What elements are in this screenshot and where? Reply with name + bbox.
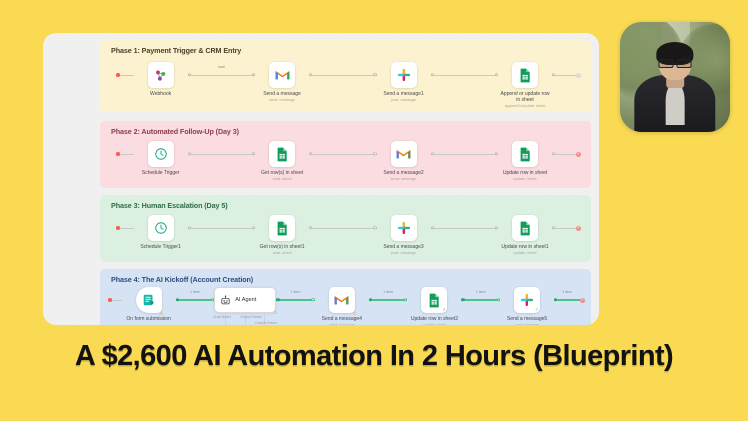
node-icon-box[interactable]	[269, 215, 295, 241]
connector-port[interactable]	[431, 73, 434, 76]
node-sublabel: post: message	[500, 323, 554, 325]
node-label: Get row(s) in sheet	[255, 170, 309, 176]
connector: 1 item	[461, 287, 500, 313]
slack-icon	[397, 68, 411, 82]
phase-3-node-row: Schedule Trigger1	[100, 215, 591, 255]
connector: 1 item	[554, 287, 580, 313]
connector: mail	[188, 62, 255, 88]
node-icon-box[interactable]: AI Agent ⚠	[214, 287, 276, 313]
node-webhook[interactable]: Webhook	[134, 62, 188, 98]
phase-4-end-dot[interactable]: +	[580, 298, 585, 303]
google-sheets-icon	[519, 68, 531, 83]
connector	[188, 215, 255, 241]
connector-port[interactable]	[369, 298, 372, 301]
connector-tag: 1 item	[562, 290, 572, 294]
page-title: A $2,600 AI Automation In 2 Hours (Bluep…	[0, 340, 748, 373]
node-icon-box[interactable]	[391, 215, 417, 241]
node-icon-box[interactable]	[512, 141, 538, 167]
node-label: Append or update row in sheet	[498, 91, 552, 104]
phase-4-title: Phase 4: The AI Kickoff (Account Creatio…	[108, 273, 257, 285]
connector: 1 item	[276, 287, 315, 313]
sub-port-label: Chat Model	[213, 315, 231, 319]
connector	[120, 141, 134, 167]
node-icon-box[interactable]	[269, 141, 295, 167]
node-label: Send a message2	[377, 170, 431, 176]
connector-port[interactable]	[188, 73, 191, 76]
node-sublabel: send: message	[315, 323, 369, 325]
node-send-a-message4[interactable]: ⚠ Send a message4 send: message	[315, 287, 369, 325]
node-send-a-message5[interactable]: ✓ Send a message5 post: message	[500, 287, 554, 325]
check-icon: ✓	[535, 308, 539, 313]
connector	[309, 215, 376, 241]
phase-2-node-row: Schedule Trigger	[100, 141, 591, 181]
phase-1-node-row: Webhook mail	[100, 62, 591, 109]
connector-port[interactable]	[176, 298, 179, 301]
connector	[431, 62, 498, 88]
slack-icon	[397, 221, 411, 235]
node-send-a-message1[interactable]: Send a message1 post: message	[377, 62, 431, 102]
node-label: Send a message5	[500, 316, 554, 322]
phase-card-1: Phase 1: Payment Trigger & CRM Entry W	[100, 40, 591, 112]
connector-tag: mail	[218, 65, 225, 69]
connector-tag: 1 item	[291, 290, 301, 294]
phase-card-4: Phase 4: The AI Kickoff (Account Creatio…	[100, 269, 591, 325]
node-sublabel: update: sheet	[407, 323, 461, 325]
connector-tag: 1 item	[190, 290, 200, 294]
connector-port[interactable]	[552, 152, 555, 155]
connector-port[interactable]	[276, 298, 279, 301]
google-sheets-icon	[428, 293, 440, 308]
node-sublabel: send: message	[377, 177, 431, 182]
node-label: Send a message3	[377, 244, 431, 250]
connector-port[interactable]	[552, 226, 555, 229]
connector-port[interactable]	[461, 298, 464, 301]
connector	[431, 215, 498, 241]
connector-port[interactable]	[552, 73, 555, 76]
connector-port[interactable]	[431, 152, 434, 155]
node-sublabel: read: sheet	[255, 177, 309, 182]
node-label: Send a message4	[315, 316, 369, 322]
node-label: Update row in sheet2	[407, 316, 461, 322]
slack-icon	[520, 293, 534, 307]
node-sublabel: post: message	[377, 98, 431, 103]
node-schedule-trigger1[interactable]: Schedule Trigger1	[134, 215, 188, 251]
node-icon-box[interactable]	[391, 141, 417, 167]
node-label: On form submission	[122, 316, 176, 322]
phase-card-3: Phase 3: Human Escalation (Day 5) Schedu…	[100, 195, 591, 262]
node-icon-box[interactable]	[148, 62, 174, 88]
glasses-icon	[659, 59, 692, 68]
sub-port-node[interactable]	[223, 324, 232, 325]
node-ai-agent[interactable]: AI Agent ⚠ AI Agent Chat Model Output Pa…	[214, 287, 276, 322]
connector-port[interactable]	[188, 152, 191, 155]
google-sheets-icon	[276, 221, 288, 236]
clock-icon	[154, 147, 168, 161]
node-icon-box[interactable]: ✓	[421, 287, 447, 313]
form-icon	[142, 293, 156, 307]
phase-1-title: Phase 1: Payment Trigger & CRM Entry	[108, 44, 245, 56]
connector	[431, 141, 498, 167]
connector: 1 item	[176, 287, 215, 313]
node-label: Send a message	[255, 91, 309, 97]
node-get-rows-in-sheet1[interactable]: Get row(s) in sheet1 read: sheet	[255, 215, 309, 255]
phase-2-end-dot[interactable]: +	[576, 152, 581, 157]
node-icon-box[interactable]	[512, 62, 538, 88]
node-icon-box[interactable]	[391, 62, 417, 88]
node-label: Schedule Trigger1	[134, 244, 188, 250]
phase-1-end-dot[interactable]: +	[576, 73, 581, 78]
node-update-row-in-sheet[interactable]: Update row in sheet update: sheet	[498, 141, 552, 181]
node-sublabel: read: sheet	[255, 251, 309, 256]
connector	[188, 141, 255, 167]
connector-port[interactable]	[188, 226, 191, 229]
gmail-icon	[334, 294, 349, 306]
connector-port[interactable]	[309, 73, 312, 76]
node-sublabel: update: sheet	[498, 251, 552, 256]
node-get-rows-in-sheet[interactable]: Get row(s) in sheet read: sheet	[255, 141, 309, 181]
gmail-icon	[396, 148, 411, 160]
connector	[120, 62, 134, 88]
connector	[120, 215, 134, 241]
node-schedule-trigger[interactable]: Schedule Trigger	[134, 141, 188, 177]
warning-icon: ⚠	[159, 312, 163, 317]
connector: 1 item	[369, 287, 408, 313]
node-label: Get row(s) in sheet1	[255, 244, 309, 250]
node-icon-box[interactable]	[148, 141, 174, 167]
sub-port-node[interactable]	[243, 324, 252, 325]
connector-tag: 1 item	[476, 290, 486, 294]
node-send-a-message3[interactable]: Send a message3 post: message	[377, 215, 431, 255]
check-icon: ✓	[442, 308, 446, 313]
node-update-row-in-sheet1[interactable]: Update row in sheet1 update: sheet	[498, 215, 552, 255]
node-label: Send a message1	[377, 91, 431, 97]
connector-port[interactable]	[431, 226, 434, 229]
phase-3-end-dot[interactable]: +	[576, 226, 581, 231]
google-sheets-icon	[519, 221, 531, 236]
node-send-a-message2[interactable]: Send a message2 send: message	[377, 141, 431, 181]
warning-icon: ⚠	[352, 312, 356, 317]
node-label: Update row in sheet	[498, 170, 552, 176]
node-sublabel: post: message	[377, 251, 431, 256]
phase-card-2: Phase 2: Automated Follow-Up (Day 3) Sch…	[100, 121, 591, 188]
google-sheets-icon	[519, 147, 531, 162]
node-append-or-update-row[interactable]: Append or update row in sheet appendOrUp…	[498, 62, 552, 109]
post-image: Phase 1: Payment Trigger & CRM Entry W	[0, 0, 748, 421]
node-icon-box[interactable]: ⚠	[136, 287, 162, 313]
node-icon-box[interactable]: ⚠	[329, 287, 355, 313]
webhook-icon	[153, 68, 168, 83]
node-sublabel: send: message	[255, 98, 309, 103]
connector	[309, 62, 376, 88]
gmail-icon	[275, 69, 290, 81]
connector-port[interactable]	[554, 298, 557, 301]
robot-icon	[220, 295, 231, 306]
phase-4-node-row: ⚠ On form submission 1 item	[100, 287, 591, 325]
connector	[552, 141, 576, 167]
node-icon-box[interactable]: ✓	[514, 287, 540, 313]
phase-2-title: Phase 2: Automated Follow-Up (Day 3)	[108, 125, 243, 137]
connector	[309, 141, 376, 167]
google-sheets-icon	[276, 147, 288, 162]
sub-port-label: Output Parser	[240, 315, 262, 319]
node-sublabel: update: sheet	[498, 177, 552, 182]
node-inline-label: AI Agent	[235, 297, 256, 303]
connector	[552, 215, 576, 241]
avatar-shirt	[666, 84, 685, 126]
node-icon-box[interactable]	[269, 62, 295, 88]
node-icon-box[interactable]	[512, 215, 538, 241]
sub-port-label: Output Parser	[255, 321, 277, 325]
node-icon-box[interactable]	[148, 215, 174, 241]
node-label: Update row in sheet1	[498, 244, 552, 250]
node-send-a-message[interactable]: Send a message send: message	[255, 62, 309, 102]
connector-port[interactable]	[309, 152, 312, 155]
workflow-canvas: Phase 1: Payment Trigger & CRM Entry W	[43, 33, 599, 325]
avatar	[620, 22, 730, 132]
connector-port[interactable]	[309, 226, 312, 229]
connector-tag: 1 item	[383, 290, 393, 294]
node-sublabel: appendOrUpdate: sheet	[498, 104, 552, 109]
node-label: Schedule Trigger	[134, 170, 188, 176]
phase-3-title: Phase 3: Human Escalation (Day 5)	[108, 199, 232, 211]
node-label: Webhook	[134, 91, 188, 97]
clock-icon	[154, 221, 168, 235]
node-on-form-submission[interactable]: ⚠ On form submission	[122, 287, 176, 322]
node-update-row-in-sheet2[interactable]: ✓ Update row in sheet2 update: sheet	[407, 287, 461, 325]
connector	[112, 287, 122, 313]
connector	[552, 62, 576, 88]
